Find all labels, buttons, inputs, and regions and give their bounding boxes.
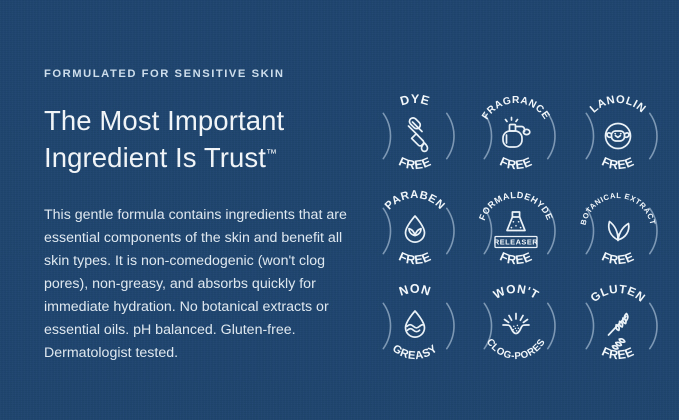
trademark-symbol: ™: [266, 148, 277, 160]
badge-bottom-label: FREE: [600, 154, 637, 172]
headline-line-2: Ingredient Is Trust: [44, 142, 266, 173]
perfume-bottle-icon: [503, 118, 530, 148]
badge-graphic: BOTANICAL EXTRACT FREE: [574, 187, 662, 275]
badge-graphic: PARABEN FREE: [371, 187, 459, 275]
badge-bottom-label: FREE: [600, 249, 637, 267]
dropper-icon: [408, 118, 427, 152]
water-droplet-icon: [405, 311, 424, 337]
wheat-icon: [609, 314, 628, 349]
badge-graphic: FRAGRANCE FREE: [472, 92, 560, 180]
body-paragraph: This gentle formula contains ingredients…: [44, 204, 356, 365]
badge-banner-text: RELEASER: [494, 237, 538, 246]
badge-non-greasy: NON GREASY: [371, 282, 459, 370]
badge-column: DYE FREE FRAGRANCE FREE: [360, 0, 679, 420]
badge-ring: [383, 303, 454, 348]
badge-dye-free: DYE FREE: [371, 92, 459, 180]
badge-wont-clog-pores: WON'T CLOG-PORES: [472, 282, 560, 370]
badge-bottom-label: FREE: [396, 249, 433, 267]
droplet-leaf-icon: [405, 216, 424, 242]
badge-graphic: NON GREASY: [371, 282, 459, 370]
badge-graphic: LANOLIN FREE: [574, 92, 662, 180]
badge-top-label: NON: [397, 282, 432, 299]
claims-badge-grid: DYE FREE FRAGRANCE FREE: [364, 92, 669, 377]
badge-fragrance-free: FRAGRANCE FREE: [472, 92, 560, 180]
badge-graphic: DYE FREE: [371, 92, 459, 180]
badge-bottom-label: FREE: [396, 154, 433, 172]
leaves-icon: [609, 222, 629, 241]
badge-top-label: GLUTEN: [588, 282, 649, 305]
badge-ring: [383, 208, 454, 253]
badge-lanolin-free: LANOLIN FREE: [574, 92, 662, 180]
badge-botanical-extract-free: BOTANICAL EXTRACT FREE: [574, 187, 662, 275]
badge-top-label: DYE: [398, 92, 431, 108]
badge-graphic: GLUTEN FREE: [574, 282, 662, 370]
page-title: The Most Important Ingredient Is Trust™: [44, 103, 344, 177]
eyebrow-label: FORMULATED FOR SENSITIVE SKIN: [44, 68, 360, 81]
badge-bottom-label: FREE: [498, 249, 535, 267]
badge-top-label: BOTANICAL EXTRACT: [579, 191, 658, 226]
badge-formaldehyde-releaser-free: FORMALDEHYDE FREE RELEASER: [472, 187, 560, 275]
badge-top-label: LANOLIN: [588, 94, 648, 116]
badge-paraben-free: PARABEN FREE: [371, 187, 459, 275]
badge-bottom-label: FREE: [498, 154, 535, 172]
badge-bottom-label: GREASY: [390, 343, 440, 363]
shaker-bottle-icon: [507, 212, 525, 231]
badge-graphic: WON'T CLOG-PORES: [472, 282, 560, 370]
badge-ring: [586, 113, 657, 158]
sheep-icon: [606, 124, 631, 149]
badge-top-label: FRAGRANCE: [481, 95, 552, 122]
badge-top-label: PARABEN: [383, 189, 447, 212]
badge-graphic: FORMALDEHYDE FREE RELEASER: [472, 187, 560, 275]
copy-column: FORMULATED FOR SENSITIVE SKIN The Most I…: [0, 0, 360, 420]
badge-gluten-free: GLUTEN FREE: [574, 282, 662, 370]
pore-icon: [503, 314, 529, 334]
promo-panel: FORMULATED FOR SENSITIVE SKIN The Most I…: [0, 0, 679, 420]
headline-line-1: The Most Important: [44, 105, 284, 136]
badge-bottom-label: CLOG-PORES: [485, 337, 549, 362]
badge-top-label: WON'T: [491, 282, 542, 302]
